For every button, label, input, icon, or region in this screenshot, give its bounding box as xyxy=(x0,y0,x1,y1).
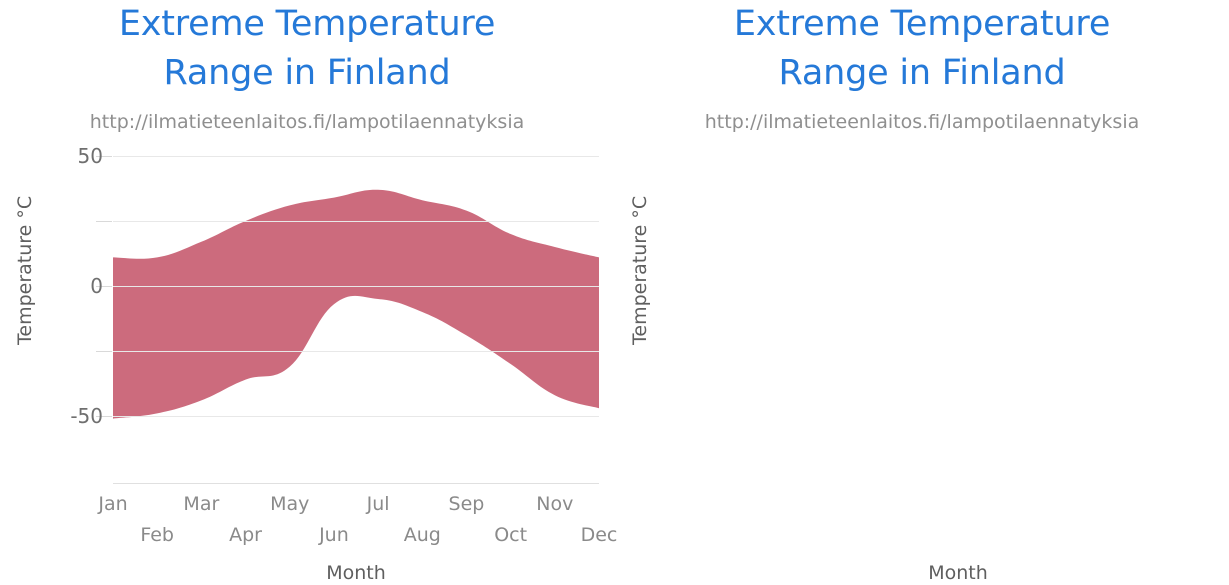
y-axis-title-left: Temperature °C xyxy=(14,196,36,345)
chart-title-line2: Range in Finland xyxy=(615,49,1229,98)
gridline xyxy=(113,351,599,352)
plot-area-left: 500-50JanFebMarAprMayJunJulAugSepOctNovD… xyxy=(113,156,599,416)
chart-panel-area: Extreme Temperature Range in Finland htt… xyxy=(0,0,614,585)
area-path xyxy=(113,190,599,419)
chart-subtitle-left: http://ilmatieteenlaitos.fi/lampotilaenn… xyxy=(0,110,614,134)
x-tick-label-jan: Jan xyxy=(98,493,127,515)
y-axis-title-right: Temperature °C xyxy=(629,196,651,345)
y-tick-mark xyxy=(96,221,112,222)
x-axis-line xyxy=(113,483,599,484)
x-tick-label-aug: Aug xyxy=(404,524,441,546)
x-axis-title-left: Month xyxy=(326,562,386,584)
chart-subtitle-right: http://ilmatieteenlaitos.fi/lampotilaenn… xyxy=(615,110,1229,134)
chart-page: Extreme Temperature Range in Finland htt… xyxy=(0,0,1229,585)
x-tick-label-oct: Oct xyxy=(494,524,527,546)
x-tick-label-sep: Sep xyxy=(449,493,485,515)
x-tick-label-jul: Jul xyxy=(367,493,390,515)
x-tick-label-nov: Nov xyxy=(536,493,573,515)
chart-panel-bars: Extreme Temperature Range in Finland htt… xyxy=(615,0,1229,585)
gridline xyxy=(113,156,599,157)
y-tick-label: 50 xyxy=(43,144,103,168)
gridline xyxy=(113,221,599,222)
x-tick-label-mar: Mar xyxy=(183,493,219,515)
x-tick-label-apr: Apr xyxy=(229,524,262,546)
chart-title-line1: Extreme Temperature xyxy=(615,0,1229,49)
y-tick-mark xyxy=(96,351,112,352)
gridline xyxy=(113,416,599,417)
x-tick-label-may: May xyxy=(270,493,309,515)
x-tick-label-jun: Jun xyxy=(319,524,349,546)
x-tick-label-feb: Feb xyxy=(140,524,174,546)
y-tick-label: 0 xyxy=(43,274,103,298)
x-axis-title-right: Month xyxy=(928,562,988,584)
chart-title-right: Extreme Temperature Range in Finland xyxy=(615,0,1229,98)
chart-title-line2: Range in Finland xyxy=(0,49,614,98)
gridline xyxy=(113,286,599,287)
x-tick-label-dec: Dec xyxy=(581,524,618,546)
chart-title-left: Extreme Temperature Range in Finland xyxy=(0,0,614,98)
y-tick-label: -50 xyxy=(43,404,103,428)
chart-title-line1: Extreme Temperature xyxy=(0,0,614,49)
